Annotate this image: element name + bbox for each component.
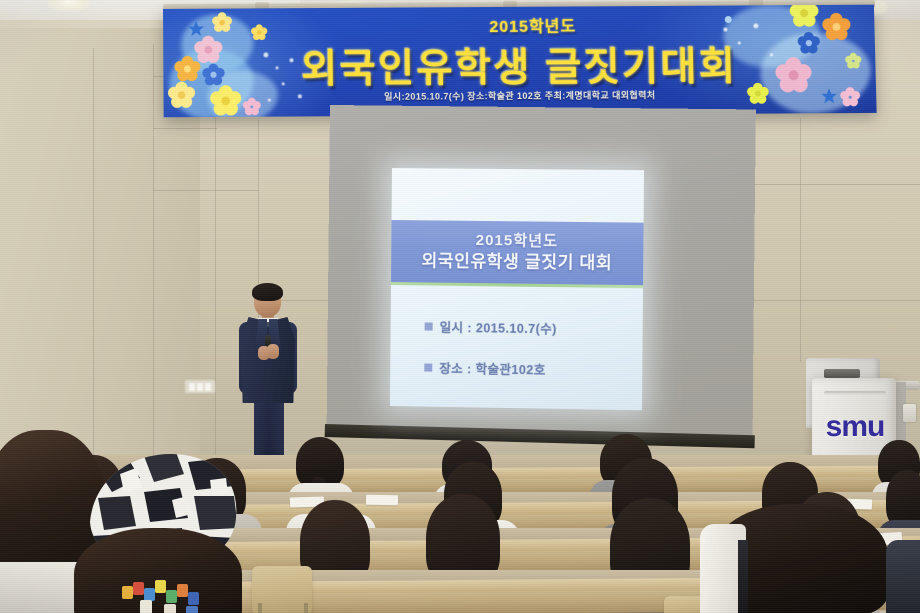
presenter-suit-jacket bbox=[241, 317, 295, 403]
chair-leg bbox=[258, 603, 262, 613]
paper-sheet bbox=[366, 495, 398, 506]
hair-accessory-icon bbox=[120, 576, 216, 613]
slide-bullet-list: 일시 : 2015.10.7(수) 장소 : 학술관102호 bbox=[424, 316, 626, 401]
wall-seam bbox=[153, 128, 217, 129]
slide-bullet-label: 장소 : 학술관102호 bbox=[439, 358, 546, 379]
presenter-hair bbox=[252, 283, 283, 301]
student-torso bbox=[886, 540, 920, 613]
switch-toggle-icon bbox=[189, 383, 195, 391]
chair-leg bbox=[304, 603, 308, 613]
projected-slide: 2015학년도 외국인유학생 글짓기 대회 일시 : 2015.10.7(수) … bbox=[390, 168, 644, 410]
switch-toggle-icon bbox=[205, 383, 211, 391]
presenter bbox=[236, 286, 300, 482]
bullet-square-icon bbox=[425, 322, 433, 330]
list-item: 장소 : 학술관102호 bbox=[424, 358, 626, 380]
lecture-hall-photo: 2015학년도 외국인유학생 글짓기대회 일시:2015.10.7(수) 장소:… bbox=[0, 0, 920, 613]
smu-logo: smu bbox=[820, 410, 890, 444]
light-switch-plate[interactable] bbox=[185, 380, 215, 393]
wall-seam bbox=[752, 300, 920, 301]
slide-title-line-2: 외국인유학생 글짓기 대회 bbox=[421, 250, 612, 274]
switch-toggle-icon bbox=[197, 383, 203, 391]
slide-title-line-1: 2015학년도 bbox=[476, 232, 559, 252]
podium-handle-icon bbox=[824, 369, 860, 378]
wall-seam bbox=[800, 118, 801, 362]
wall-seam bbox=[153, 44, 154, 500]
slide-bullet-label: 일시 : 2015.10.7(수) bbox=[440, 317, 557, 338]
wall-seam bbox=[752, 184, 920, 185]
podium-groove bbox=[824, 391, 886, 395]
bullet-square-icon bbox=[424, 363, 432, 371]
list-item: 일시 : 2015.10.7(수) bbox=[425, 316, 627, 338]
wall-seam bbox=[153, 190, 258, 191]
event-banner: 2015학년도 외국인유학생 글짓기대회 일시:2015.10.7(수) 장소:… bbox=[163, 5, 877, 118]
slide-title-band: 2015학년도 외국인유학생 글짓기 대회 bbox=[391, 220, 644, 285]
wall-seam bbox=[93, 48, 94, 500]
bag-strap bbox=[738, 540, 748, 613]
presenter-hand-right bbox=[267, 344, 279, 359]
wall-outlet-icon bbox=[903, 404, 916, 422]
banner-title-text: 외국인유학생 글짓기대회 bbox=[163, 35, 876, 96]
